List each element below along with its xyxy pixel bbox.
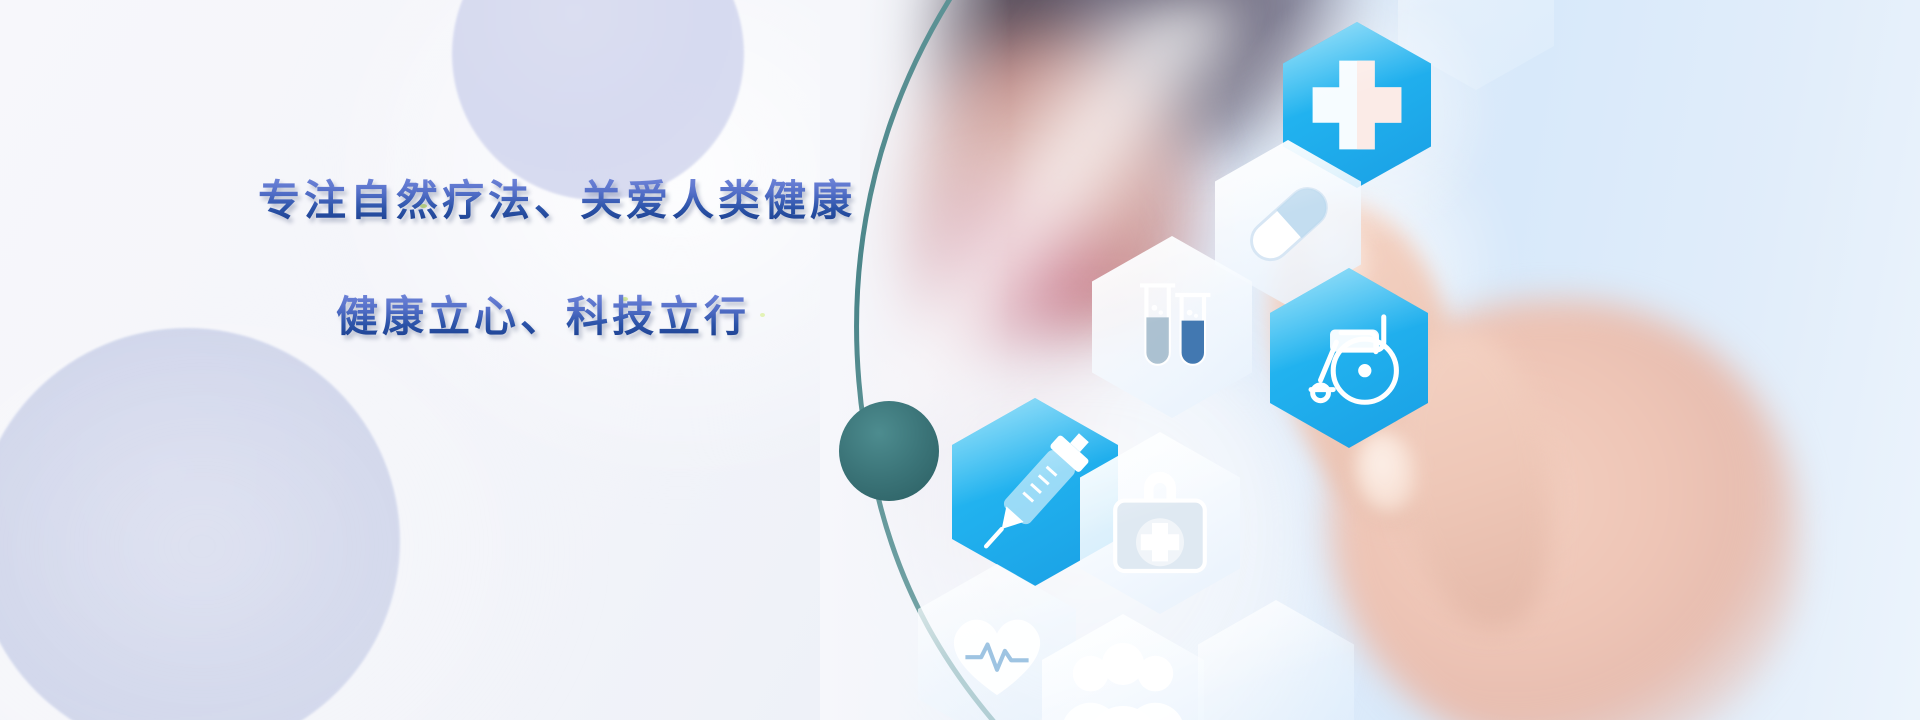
headline-line-1: 专注自然疗法、关爱人类健康	[258, 178, 898, 224]
headline-block: 专注自然疗法、关爱人类健康 健康立心、科技立行	[258, 178, 898, 340]
headline-line-2: 健康立心、科技立行	[336, 294, 898, 340]
lavender-circle-top	[452, 0, 744, 200]
hexagon-decorative-lower	[1198, 600, 1354, 720]
hero-banner: 专注自然疗法、关爱人类健康 健康立心、科技立行	[0, 0, 1920, 720]
background-haze-bottom	[0, 300, 580, 720]
lavender-circle-bottom	[0, 328, 400, 720]
hexagon-icon-cluster	[880, 0, 1920, 720]
